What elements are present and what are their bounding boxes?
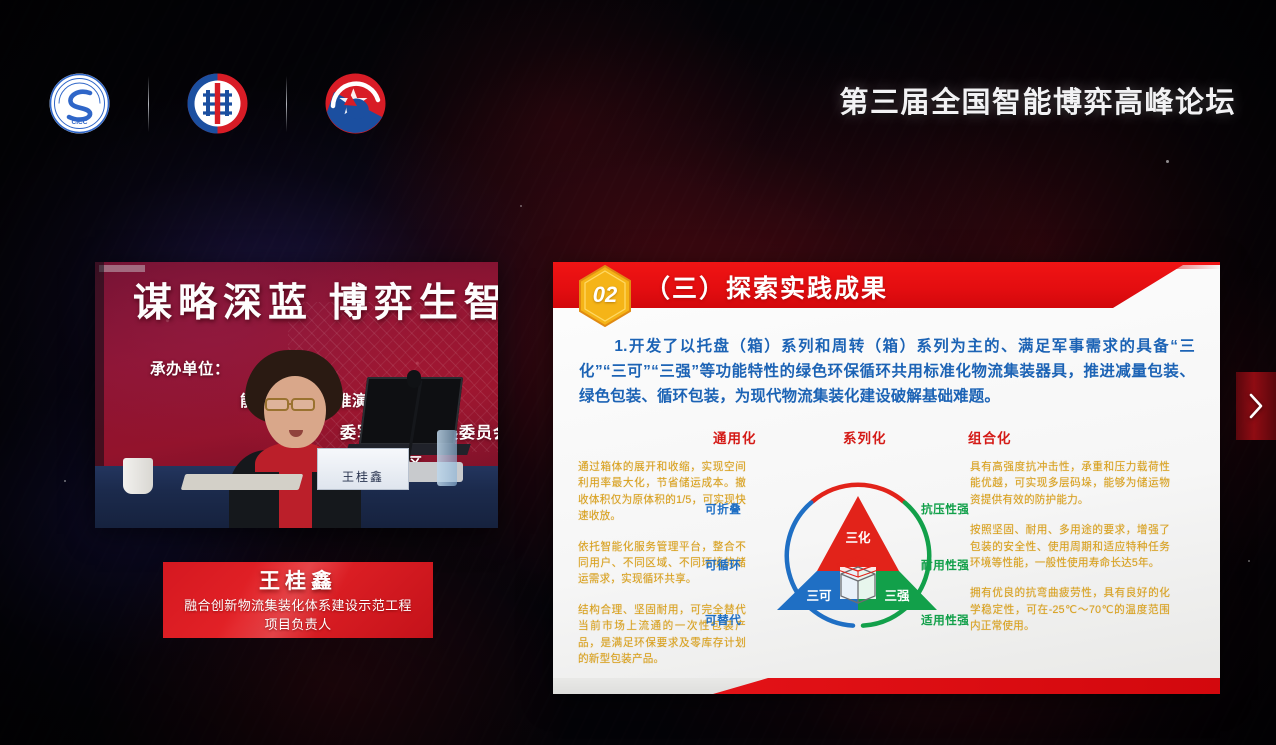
- chevron-right-icon: [1248, 392, 1265, 420]
- keyboard: [181, 474, 304, 490]
- right-paragraph: 具有高强度抗冲击性，承重和压力载荷性能优越，可实现多层码垛，能够为储运物资提供有…: [970, 459, 1170, 508]
- slide-section-title: （三）探索实践成果: [645, 269, 888, 305]
- slide-footer-accent: [553, 678, 1220, 694]
- background-spark: [520, 205, 522, 207]
- column-heading-series: 系列化: [843, 427, 887, 447]
- paper-cup: [123, 458, 153, 494]
- institute-logo: [186, 72, 249, 135]
- diagram-left-label-replaceable: 可替代: [705, 612, 741, 628]
- diagram-right-label-applicable: 适用性强: [921, 612, 969, 628]
- diagram-left-label-recyclable: 可循环: [705, 557, 741, 573]
- committee-logo: [324, 72, 387, 135]
- section-badge: 02: [578, 265, 632, 327]
- segment-label-right: 三强: [884, 589, 910, 603]
- background-spark: [64, 480, 66, 482]
- right-paragraph: 拥有优良的抗弯曲疲劳性，具有良好的化学稳定性，可在-25℃～70℃的温度范围内正…: [970, 585, 1170, 634]
- column-heading-modular: 组合化: [968, 427, 1012, 447]
- section-badge-number: 02: [578, 282, 632, 308]
- speaker-role-line2: 项目负责人: [264, 617, 331, 632]
- column-heading-general: 通用化: [713, 427, 757, 447]
- right-paragraph: 按照坚固、耐用、多用途的要求，增强了包装的安全性、使用周期和适应特种任务环境等性…: [970, 522, 1170, 571]
- backdrop-headline: 谋略深蓝 博弈生智: [133, 272, 498, 328]
- microphone-head: [407, 370, 421, 388]
- svg-text:CICC: CICC: [72, 119, 88, 126]
- right-text-column: 具有高强度抗冲击性，承重和压力载荷性能优越，可实现多层码垛，能够为储运物资提供有…: [970, 459, 1170, 649]
- column-headings: 通用化 系列化 组合化: [553, 427, 1220, 449]
- logo-row: CICC: [48, 72, 387, 135]
- diagram-left-label-foldable: 可折叠: [705, 501, 741, 517]
- speaker-glasses-bridge: [289, 403, 293, 405]
- logo-divider: [148, 76, 149, 132]
- video-player[interactable]: 谋略深蓝 博弈生智 承办单位： 能博弈与兵棋推演专委会 委军民融合发展委员会办公…: [95, 262, 498, 528]
- page-header: CICC: [0, 0, 1276, 175]
- water-bottle: [437, 430, 457, 486]
- desk-nameplate: 王桂鑫: [317, 448, 409, 490]
- slide-lead-paragraph: 1.开发了以托盘（箱）系列和周转（箱）系列为主的、满足军事需求的具备“三化”“三…: [579, 334, 1195, 409]
- slide-header: 02 （三）探索实践成果: [553, 262, 1220, 308]
- segment-label-left: 三可: [806, 589, 832, 603]
- speaker-role: 融合创新物流集装化体系建设示范工程 项目负责人: [163, 596, 433, 634]
- speaker-glasses-right: [291, 398, 315, 411]
- segment-label-top: 三化: [845, 530, 871, 545]
- speaker-face: [264, 376, 326, 448]
- speaker-name: 王桂鑫: [163, 565, 433, 595]
- cicc-logo: CICC: [48, 72, 111, 135]
- conference-title: 第三届全国智能博弈高峰论坛: [839, 79, 1236, 121]
- speaker-glasses-left: [265, 398, 289, 411]
- video-screen-bar: [99, 265, 145, 272]
- diagram-right-label-durable: 耐用性强: [921, 557, 969, 573]
- diagram-right-label-pressure: 抗压性强: [921, 501, 969, 517]
- speaker-role-line1: 融合创新物流集装化体系建设示范工程: [184, 598, 412, 613]
- background-spark: [1248, 560, 1250, 562]
- logo-divider: [286, 76, 287, 132]
- three-properties-diagram: 三化 三可 三强 可折叠 可循环 可替代 抗压性强 耐用性强 适用性强: [749, 460, 967, 650]
- next-slide-button[interactable]: [1236, 372, 1276, 440]
- desk-nameplate-text: 王桂鑫: [342, 468, 384, 485]
- presentation-slide[interactable]: 02 （三）探索实践成果 1.开发了以托盘（箱）系列和周转（箱）系列为主的、满足…: [553, 262, 1220, 694]
- speaker-name-card: 王桂鑫 融合创新物流集装化体系建设示范工程 项目负责人: [163, 562, 433, 638]
